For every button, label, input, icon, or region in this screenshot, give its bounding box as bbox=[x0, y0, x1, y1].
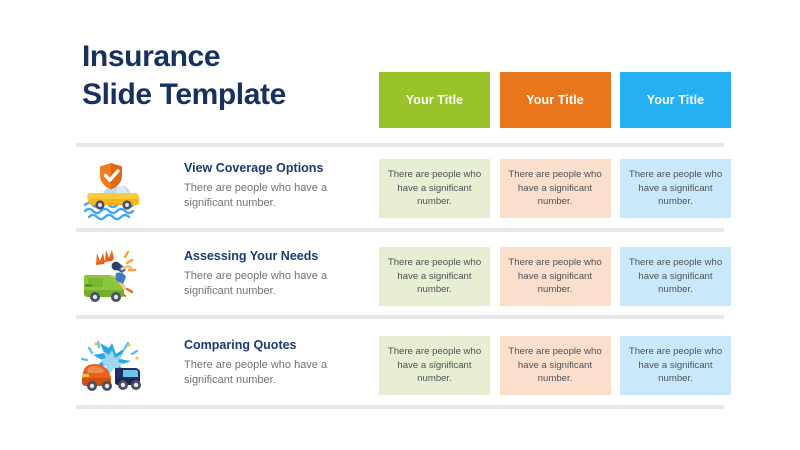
column-header-label: Your Title bbox=[406, 93, 464, 107]
cell-blue[interactable]: There are people who have a significant … bbox=[620, 247, 731, 306]
column-header-orange[interactable]: Your Title bbox=[500, 72, 611, 128]
column-header-blue[interactable]: Your Title bbox=[620, 72, 731, 128]
cell-orange[interactable]: There are people who have a significant … bbox=[500, 336, 611, 395]
cell-green[interactable]: There are people who have a significant … bbox=[379, 247, 490, 306]
cell-green[interactable]: There are people who have a significant … bbox=[379, 336, 490, 395]
cell-green[interactable]: There are people who have a significant … bbox=[379, 159, 490, 218]
row-description: There are people who have a significant … bbox=[184, 181, 364, 211]
cell-blue[interactable]: There are people who have a significant … bbox=[620, 336, 731, 395]
row-cells: There are people who have a significant … bbox=[379, 247, 731, 306]
page-title-line-1: Insurance bbox=[82, 38, 372, 76]
car-truck-collision-icon bbox=[79, 336, 145, 402]
table-row: View Coverage Options There are people w… bbox=[0, 155, 800, 233]
cell-text: There are people who have a significant … bbox=[385, 345, 484, 386]
table-row: Assessing Your Needs There are people wh… bbox=[0, 243, 800, 321]
header-area: Insurance Slide Template Your Title Your… bbox=[0, 0, 800, 135]
row-cells: There are people who have a significant … bbox=[379, 336, 731, 395]
cell-text: There are people who have a significant … bbox=[626, 345, 725, 386]
row-cells: There are people who have a significant … bbox=[379, 159, 731, 218]
row-heading: Comparing Quotes bbox=[184, 338, 364, 353]
row-text-block: Comparing Quotes There are people who ha… bbox=[184, 338, 364, 388]
row-heading: View Coverage Options bbox=[184, 161, 364, 176]
cell-orange[interactable]: There are people who have a significant … bbox=[500, 159, 611, 218]
page-title-line-2: Slide Template bbox=[82, 76, 372, 114]
column-header-row: Your Title Your Title Your Title bbox=[379, 72, 731, 128]
row-description: There are people who have a significant … bbox=[184, 269, 364, 299]
cell-text: There are people who have a significant … bbox=[506, 345, 605, 386]
cell-text: There are people who have a significant … bbox=[626, 256, 725, 297]
divider-top bbox=[76, 143, 724, 147]
page-title: Insurance Slide Template bbox=[82, 38, 372, 115]
slide-canvas: Insurance Slide Template Your Title Your… bbox=[0, 0, 800, 450]
cell-blue[interactable]: There are people who have a significant … bbox=[620, 159, 731, 218]
cell-text: There are people who have a significant … bbox=[626, 168, 725, 209]
cell-orange[interactable]: There are people who have a significant … bbox=[500, 247, 611, 306]
van-pedestrian-accident-icon bbox=[79, 247, 145, 313]
row-text-block: View Coverage Options There are people w… bbox=[184, 161, 364, 211]
row-heading: Assessing Your Needs bbox=[184, 249, 364, 264]
column-header-label: Your Title bbox=[647, 93, 705, 107]
cell-text: There are people who have a significant … bbox=[385, 168, 484, 209]
column-header-green[interactable]: Your Title bbox=[379, 72, 490, 128]
table-row: Comparing Quotes There are people who ha… bbox=[0, 332, 800, 410]
row-description: There are people who have a significant … bbox=[184, 358, 364, 388]
cell-text: There are people who have a significant … bbox=[506, 168, 605, 209]
cell-text: There are people who have a significant … bbox=[506, 256, 605, 297]
column-header-label: Your Title bbox=[526, 93, 584, 107]
flood-car-shield-icon bbox=[79, 159, 145, 225]
cell-text: There are people who have a significant … bbox=[385, 256, 484, 297]
row-text-block: Assessing Your Needs There are people wh… bbox=[184, 249, 364, 299]
